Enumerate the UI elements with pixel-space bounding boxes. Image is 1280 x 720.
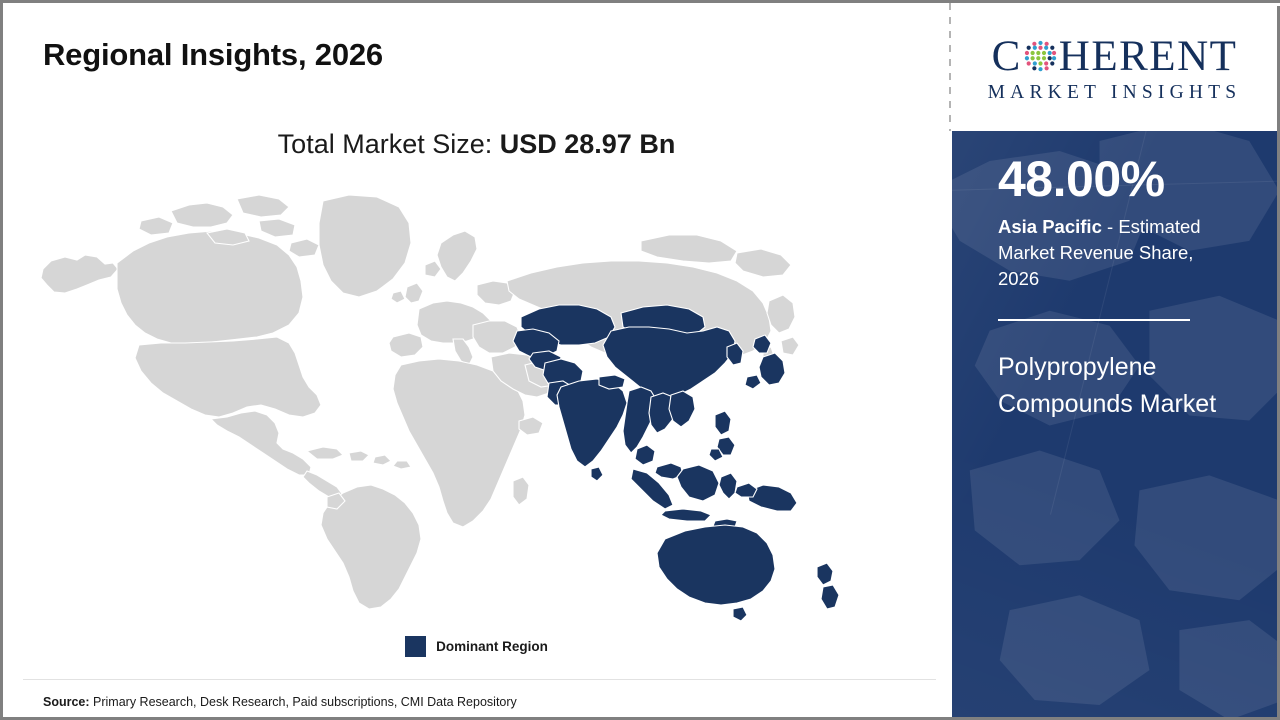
- logo-tagline: MARKET INSIGHTS: [970, 83, 1260, 103]
- source-divider: [23, 679, 936, 680]
- source-text: Primary Research, Desk Research, Paid su…: [90, 695, 517, 709]
- globe-dots-svg: [1023, 39, 1058, 74]
- map-region-north-america: [41, 195, 411, 501]
- regional-insights-slide: Regional Insights, 2026 Total Market Siz…: [0, 0, 1280, 720]
- main-content-area: Regional Insights, 2026 Total Market Siz…: [3, 3, 950, 720]
- logo-letters-herent: HERENT: [1059, 35, 1238, 78]
- market-name: Polypropylene Compounds Market: [998, 349, 1231, 423]
- brand-logo: C: [952, 6, 1280, 131]
- legend-swatch-dominant-region: [405, 636, 426, 657]
- source-label: Source:: [43, 695, 90, 709]
- logo-wordmark: C: [970, 35, 1260, 78]
- source-note: Source: Primary Research, Desk Research,…: [43, 695, 517, 709]
- stat-side-panel: 48.00% Asia Pacific - Estimated Market R…: [952, 131, 1280, 720]
- market-size-value: USD 28.97 Bn: [500, 129, 676, 159]
- page-title: Regional Insights, 2026: [43, 37, 383, 73]
- map-region-south-america: [321, 485, 421, 609]
- globe-dots-icon: [1023, 39, 1058, 74]
- market-share-description: Asia Pacific - Estimated Market Revenue …: [998, 214, 1231, 293]
- legend-label-dominant-region: Dominant Region: [436, 639, 548, 654]
- map-legend: Dominant Region: [3, 636, 950, 657]
- market-share-percent: 48.00%: [998, 153, 1231, 206]
- logo-letter-c: C: [992, 35, 1022, 78]
- world-map: [21, 181, 921, 621]
- vertical-dashed-divider: [949, 3, 951, 131]
- panel-horizontal-rule: [998, 319, 1190, 321]
- region-name: Asia Pacific: [998, 216, 1102, 237]
- market-size-label: Total Market Size:: [278, 129, 500, 159]
- panel-content: 48.00% Asia Pacific - Estimated Market R…: [952, 153, 1277, 422]
- logo-inner: C: [970, 35, 1260, 103]
- total-market-size: Total Market Size: USD 28.97 Bn: [3, 129, 950, 160]
- world-map-svg: [21, 181, 921, 621]
